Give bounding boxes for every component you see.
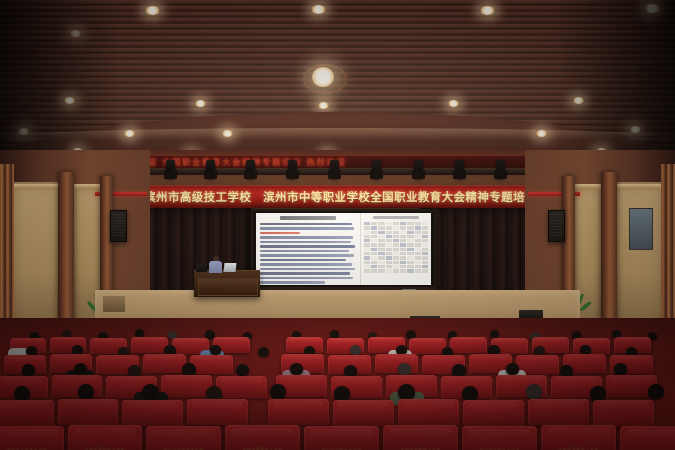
ceiling-downlight	[195, 100, 206, 107]
slide-right-title	[373, 216, 419, 219]
auditorium-photo: 热烈欢迎 全国职业教育大会精神专题培训 热烈欢迎 滨州市高级技工学校 滨州市中等…	[0, 0, 675, 450]
control-room-window	[629, 208, 653, 250]
ceiling-downlight	[145, 6, 160, 15]
seat: 滨州市高级技工学校	[541, 425, 616, 450]
seat: 滨州市高级技工学校	[304, 426, 379, 450]
seat	[58, 399, 118, 425]
wall-trim	[569, 184, 665, 189]
slide-character-grid	[364, 222, 428, 273]
ceiling-right-shadow	[555, 0, 675, 175]
desk-front-panel	[198, 278, 258, 296]
wall-fluted-pillar	[661, 164, 675, 340]
ceiling-downlight	[536, 130, 547, 137]
wall-panel	[10, 182, 62, 334]
projection-screen-content	[256, 213, 431, 285]
stage-monitor	[196, 263, 207, 272]
seat: 滨州市高级技工学校	[383, 425, 458, 450]
stage-light	[372, 160, 381, 179]
wall-panel	[613, 182, 665, 334]
speaker-person	[209, 256, 222, 273]
wall-fluted-pillar	[0, 164, 14, 340]
seat	[52, 375, 102, 397]
event-banner-text: 滨州市高级技工学校 滨州市中等职业学校全国职业教育大会精神专题培训	[118, 186, 563, 208]
seat: 滨州市高级技工学校	[68, 425, 142, 450]
projection-screen	[251, 209, 436, 297]
event-banner: 滨州市高级技工学校 滨州市中等职业学校全国职业教育大会精神专题培训	[118, 185, 563, 208]
seat	[528, 399, 589, 425]
seat	[620, 426, 675, 450]
seat	[375, 354, 418, 373]
seat	[216, 376, 267, 398]
seat	[450, 337, 487, 353]
speaker-desk	[194, 270, 260, 297]
ceiling-downlight	[448, 100, 459, 107]
ceiling-downlight	[480, 6, 495, 15]
slide-right-table	[360, 213, 431, 285]
ceiling-downlight-center	[312, 67, 334, 87]
stage-side-box	[103, 296, 125, 312]
laptop	[224, 263, 237, 272]
wall-speaker	[548, 210, 565, 242]
stage-light	[496, 160, 505, 179]
seat	[398, 399, 459, 425]
ceiling-downlight	[318, 102, 329, 109]
seat	[122, 400, 183, 426]
seat	[131, 337, 168, 353]
seat	[0, 400, 54, 426]
seat	[161, 375, 212, 397]
seat	[409, 338, 446, 354]
wall-pillar	[601, 172, 617, 340]
ceiling-left-shadow	[0, 0, 120, 175]
stage-light	[246, 160, 255, 179]
seat: 滨州市高级技工学校	[146, 426, 221, 450]
stage-light	[455, 160, 464, 179]
wall-pillar	[58, 172, 74, 340]
stage-light	[330, 160, 339, 179]
seat	[143, 354, 186, 373]
seat	[463, 400, 524, 426]
seat	[333, 400, 394, 426]
slide-left-document	[256, 213, 360, 285]
audience-seating: 滨州市高级技工学校 滨州市高级技工学校 滨州市高级技工学校 滨州市高级技工学校 …	[0, 318, 675, 450]
seat	[268, 399, 329, 425]
seat: 滨州市高级技工学校	[225, 425, 300, 450]
ceiling-downlight	[124, 130, 135, 137]
speaker-torso	[209, 261, 222, 273]
stage-light	[288, 160, 297, 179]
stage-light	[414, 160, 423, 179]
seat	[573, 338, 610, 354]
ceiling-downlight	[311, 5, 326, 14]
seat	[190, 355, 233, 374]
ceiling-downlight	[222, 130, 233, 137]
stage-light	[206, 160, 215, 179]
seat	[593, 400, 654, 426]
wall-speaker	[110, 210, 127, 242]
stage-light	[166, 160, 175, 179]
seat	[187, 399, 248, 425]
seat: 滨州市高级技工学校	[462, 426, 537, 450]
slide-left-title	[280, 216, 336, 220]
seat: 滨州市高级技工学校	[0, 426, 64, 450]
